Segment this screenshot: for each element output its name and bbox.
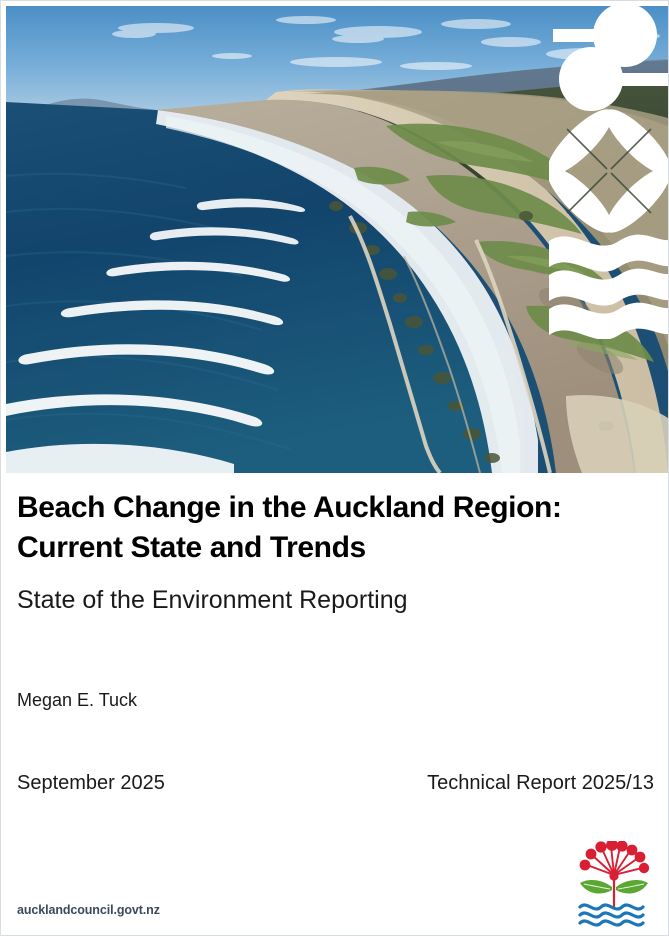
council-logo-mark: [574, 841, 654, 927]
page-title: Beach Change in the Auckland Region: Cur…: [17, 488, 654, 567]
publication-date: September 2025: [17, 772, 165, 795]
cover-photo: [6, 6, 668, 473]
publication-meta-row: September 2025 Technical Report 2025/13: [17, 772, 654, 795]
cover-photo-illustration: [6, 6, 668, 473]
title-block: Beach Change in the Auckland Region: Cur…: [17, 488, 654, 616]
footer-website-url[interactable]: aucklandcouncil.govt.nz: [17, 903, 160, 917]
page-subtitle: State of the Environment Reporting: [17, 585, 654, 616]
author-name: Megan E. Tuck: [17, 690, 137, 711]
logo-center: [609, 871, 618, 880]
report-cover-page: Beach Change in the Auckland Region: Cur…: [0, 0, 669, 936]
report-number: Technical Report 2025/13: [427, 772, 654, 795]
title-line-1: Beach Change in the Auckland Region:: [17, 488, 654, 528]
logo-waves: [580, 905, 643, 925]
title-line-2: Current State and Trends: [17, 528, 654, 568]
auckland-council-logo: [574, 841, 654, 927]
